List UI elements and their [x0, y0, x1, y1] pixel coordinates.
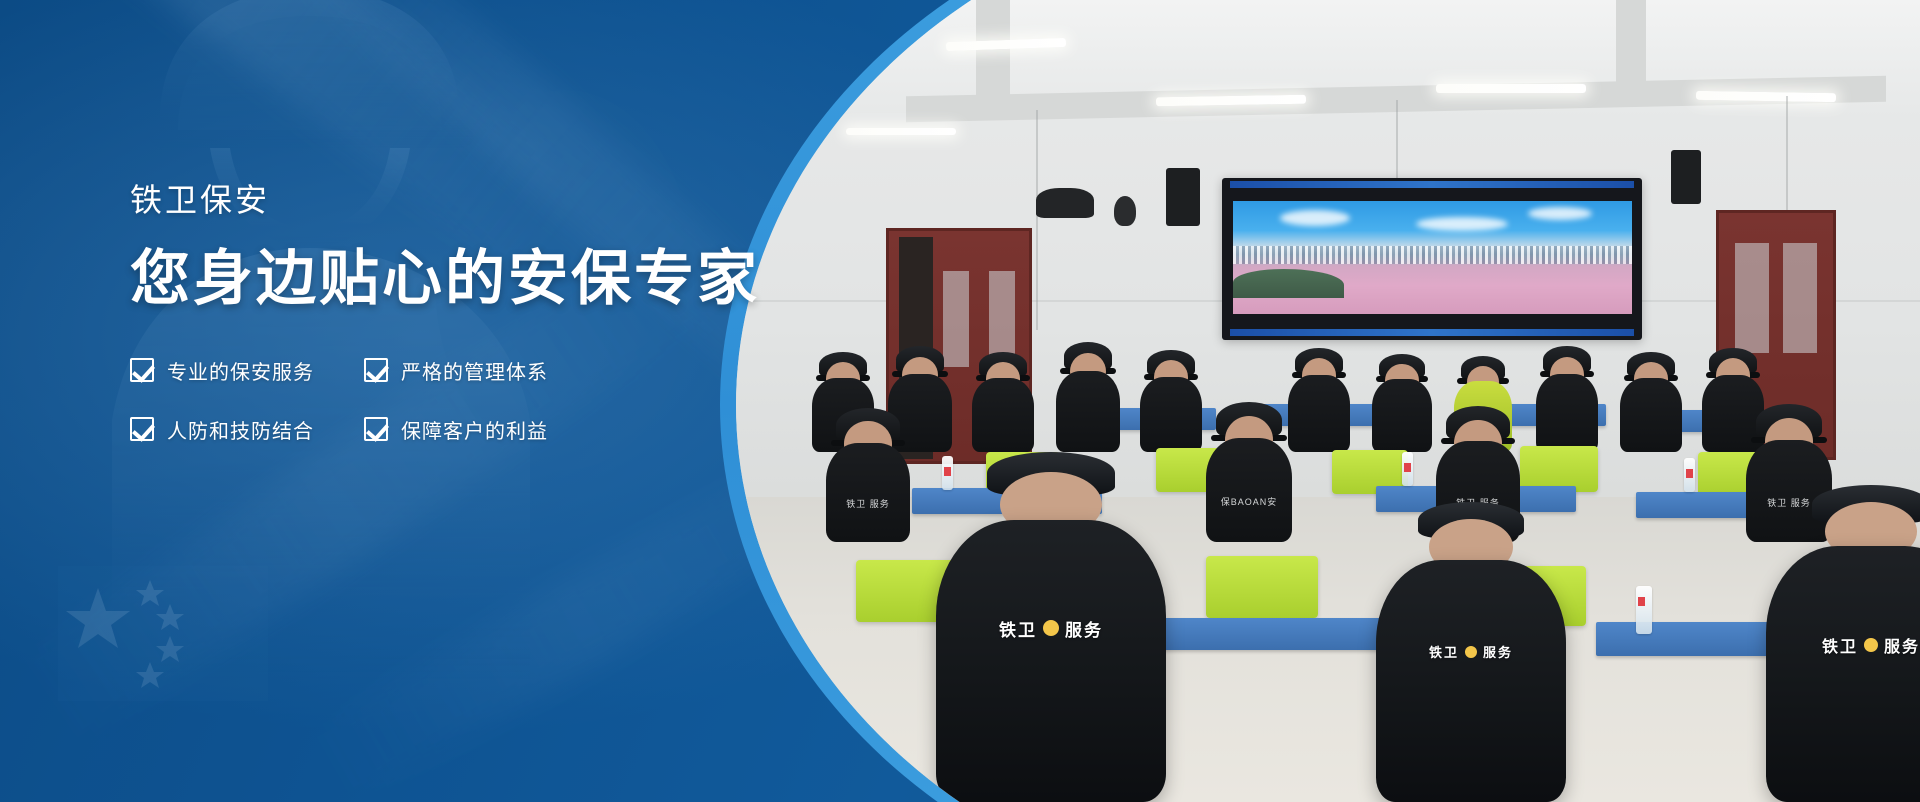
guard-foreground-right: 铁卫 服务 — [1766, 546, 1920, 802]
water-bottle-2 — [1402, 452, 1413, 486]
guard-mid-1: 铁卫 服务 — [826, 408, 910, 542]
guard-back-9 — [1620, 352, 1682, 452]
ceiling-light-3 — [1436, 84, 1586, 93]
hero-banner: 铁卫 服务 保BAOAN安 铁卫 服务 铁卫 服务 — [0, 0, 1920, 802]
guard-uniform-2 — [1376, 560, 1566, 802]
water-bottle-3 — [1684, 458, 1695, 492]
uniform-back-text-3: 铁卫 服务 — [1822, 633, 1920, 657]
feature-item-1: 专业的保安服务 — [130, 356, 340, 385]
uniform-text-right-2: 服务 — [1483, 642, 1513, 661]
hero-content: 铁卫保安 您身边贴心的安保专家 专业的保安服务 严格的管理体系 人防和技防结合 … — [130, 175, 810, 444]
uniform-text-right: 服务 — [1065, 616, 1103, 641]
guard-back-5 — [1140, 350, 1202, 452]
checkbox-check-icon-1 — [130, 358, 154, 382]
guard-back-8 — [1536, 346, 1598, 452]
photo-clip-mask: 铁卫 服务 保BAOAN安 铁卫 服务 铁卫 服务 — [736, 0, 1920, 802]
security-emblem-icon-3 — [1864, 638, 1878, 652]
checkbox-check-icon-4 — [364, 417, 388, 441]
feature-label-3: 人防和技防结合 — [167, 415, 314, 444]
water-bottle-1 — [942, 456, 953, 490]
surveillance-camera-icon — [1114, 196, 1136, 226]
guard-mid-2: 保BAOAN安 — [1206, 402, 1292, 542]
guard-uniform-3 — [1766, 546, 1920, 802]
projector-icon — [1036, 188, 1094, 218]
uniform-back-text-2: 铁卫 服务 — [1429, 642, 1513, 661]
guard-mid-4: 铁卫 服务 — [1746, 404, 1832, 542]
city-skyline-band — [1233, 246, 1632, 264]
uniform-text-left: 铁卫 — [999, 616, 1037, 641]
screen-top-toolbar — [1230, 181, 1633, 188]
hero-photo-panel: 铁卫 服务 保BAOAN安 铁卫 服务 铁卫 服务 — [760, 0, 1920, 802]
desk-near-1 — [1136, 618, 1386, 650]
screen-aerial-city-image — [1233, 201, 1632, 314]
guard-foreground-mid: 铁卫 服务 — [1376, 560, 1566, 802]
uniform-text-left-3: 铁卫 — [1822, 633, 1858, 657]
checkbox-check-icon-2 — [364, 358, 388, 382]
feature-item-2: 严格的管理体系 — [364, 356, 810, 385]
wall-speaker-icon — [1166, 168, 1200, 226]
screen-bottom-toolbar — [1230, 329, 1633, 336]
feature-item-3: 人防和技防结合 — [130, 415, 340, 444]
security-emblem-icon-2 — [1465, 646, 1477, 658]
guard-back-3 — [972, 352, 1034, 452]
feature-label-1: 专业的保安服务 — [167, 356, 314, 385]
feature-item-4: 保障客户的利益 — [364, 415, 810, 444]
led-display-screen — [1222, 178, 1642, 340]
water-bottle-4 — [1636, 586, 1652, 634]
ceiling-light-5 — [846, 128, 956, 135]
feature-label-2: 严格的管理体系 — [401, 356, 548, 385]
uniform-text-left-2: 铁卫 — [1429, 642, 1459, 661]
wall-speaker-2-icon — [1671, 150, 1701, 204]
wall-seam-v1 — [1036, 110, 1038, 330]
checkbox-check-icon-3 — [130, 417, 154, 441]
uniform-back-text: 铁卫 服务 — [999, 616, 1103, 641]
guard-foreground-left: 铁卫 服务 — [936, 520, 1166, 802]
guard-uniform — [936, 520, 1166, 802]
hill-shape — [1233, 269, 1345, 298]
flag-watermark — [58, 566, 268, 701]
uniform-text-right-3: 服务 — [1884, 633, 1920, 657]
brand-name: 铁卫保安 — [130, 175, 810, 221]
chair-near-2 — [1206, 556, 1318, 618]
feature-list: 专业的保安服务 严格的管理体系 人防和技防结合 保障客户的利益 — [130, 356, 810, 444]
training-room-photo: 铁卫 服务 保BAOAN安 铁卫 服务 铁卫 服务 — [736, 0, 1920, 802]
page-title: 您身边贴心的安保专家 — [130, 247, 810, 312]
guard-back-7 — [1372, 354, 1432, 452]
guard-back-6 — [1288, 348, 1350, 452]
security-emblem-icon — [1043, 620, 1059, 636]
feature-label-4: 保障客户的利益 — [401, 415, 548, 444]
ceiling-beam-3 — [1616, 0, 1646, 92]
guard-back-4 — [1056, 342, 1120, 452]
